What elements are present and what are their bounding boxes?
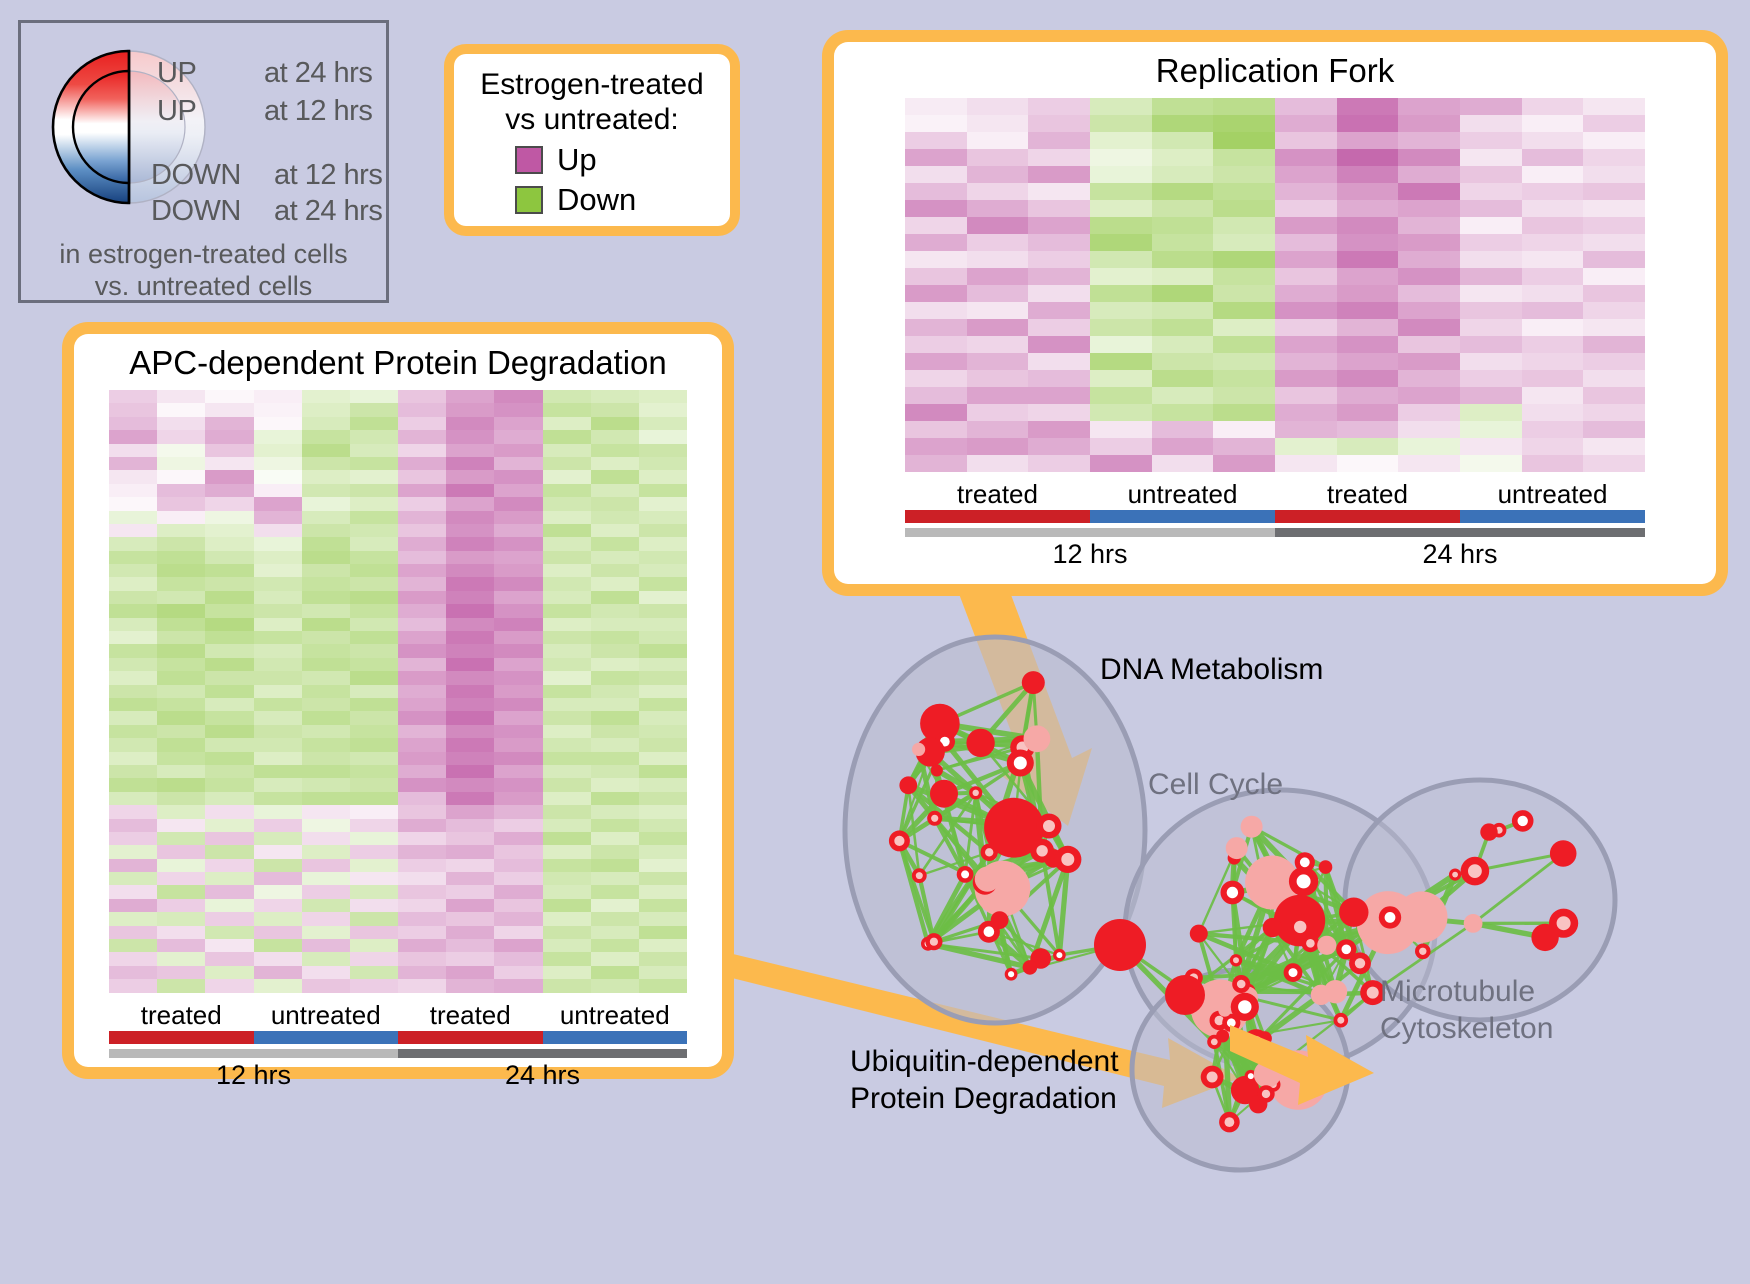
heatmap-cell [1522, 421, 1584, 438]
heatmap-cell [1152, 98, 1214, 115]
axis-group-label-3: untreated [543, 1000, 688, 1031]
heatmap-cell [543, 685, 591, 698]
heatmap-cell [109, 618, 157, 631]
heatmap-cell [446, 926, 494, 939]
heatmap-cell [905, 251, 967, 268]
heatmap-cell [494, 591, 542, 604]
heatmap-cell [1213, 115, 1275, 132]
heatmap-cell [543, 444, 591, 457]
heatmap-cell [446, 912, 494, 925]
heatmap-cell [639, 417, 687, 430]
heatmap-cell [109, 671, 157, 684]
heatmap-cell [1152, 455, 1214, 472]
heatmap-cell [205, 926, 253, 939]
heatmap-cell [109, 979, 157, 992]
heatmap-cell [1213, 200, 1275, 217]
heatmap-cell [157, 631, 205, 644]
heatmap-cell [494, 604, 542, 617]
heatmap-cell [591, 939, 639, 952]
heatmap-cell [1028, 166, 1090, 183]
heatmap-cell [398, 631, 446, 644]
heatmap-cell [1028, 353, 1090, 370]
heatmap-cell [1090, 234, 1152, 251]
heatmap-cell [109, 939, 157, 952]
heatmap-cell [302, 524, 350, 537]
heatmap-cell [1275, 421, 1337, 438]
heatmap-cell [254, 778, 302, 791]
heatmap-cell [591, 457, 639, 470]
heatmap-cell [494, 390, 542, 403]
heatmap-cell [302, 497, 350, 510]
heatmap-cell [639, 698, 687, 711]
heatmap-cell [543, 711, 591, 724]
heatmap-cell [398, 457, 446, 470]
heatmap-cell [446, 604, 494, 617]
heatmap-cell [494, 912, 542, 925]
heatmap-cell [1522, 166, 1584, 183]
heatmap-cell [494, 819, 542, 832]
heatmap-cell [905, 183, 967, 200]
heatmap-cell [302, 484, 350, 497]
heatmap-cell [1522, 149, 1584, 166]
heatmap-cell [350, 872, 398, 885]
network-node [1226, 837, 1248, 859]
heatmap-cell [109, 885, 157, 898]
heatmap-cell [350, 952, 398, 965]
treatment-color-bar [109, 1031, 687, 1044]
heatmap-cell [543, 859, 591, 872]
heatmap-cell [254, 671, 302, 684]
network-node-core [1306, 939, 1315, 948]
legend-time-3: at 24 hrs [274, 195, 382, 228]
heatmap-cell [350, 403, 398, 416]
heatmap-cell [398, 671, 446, 684]
heatmap-cell [1213, 217, 1275, 234]
heatmap-cell [1583, 98, 1645, 115]
heatmap-cell [157, 939, 205, 952]
heatmap-cell [350, 457, 398, 470]
heatmap-cell [157, 832, 205, 845]
heatmap-cell [905, 234, 967, 251]
axis-group-label-2: treated [1275, 479, 1460, 510]
heatmap-cell [157, 564, 205, 577]
heatmap-cell [1460, 302, 1522, 319]
network-node [1165, 975, 1205, 1015]
heatmap-cell [302, 738, 350, 751]
heatmap-cell [967, 149, 1029, 166]
heatmap-cell [591, 859, 639, 872]
heatmap-cell [350, 644, 398, 657]
heatmap-cell [494, 484, 542, 497]
heatmap-cell [543, 738, 591, 751]
heatmap-cell [1152, 319, 1214, 336]
heatmap-cell [350, 845, 398, 858]
heatmap-cell [446, 671, 494, 684]
heatmap-cell [591, 872, 639, 885]
heatmap-cell [446, 805, 494, 818]
heatmap-cell [967, 183, 1029, 200]
heatmap-cell [302, 685, 350, 698]
heatmap-cell [1460, 268, 1522, 285]
heatmap-cell [967, 370, 1029, 387]
heatmap-cell [543, 417, 591, 430]
heatmap-cell [157, 604, 205, 617]
treatment-color-bar [905, 510, 1645, 523]
heatmap-cell [350, 926, 398, 939]
heatmap-cell [205, 390, 253, 403]
network-node [930, 780, 958, 808]
heatmap-cell [205, 537, 253, 550]
axis-group-label-3: untreated [1460, 479, 1645, 510]
heatmap-cell [591, 819, 639, 832]
network-node [1094, 919, 1146, 971]
heatmap-cell [254, 604, 302, 617]
heatmap-cell [205, 484, 253, 497]
heatmap-cell [398, 979, 446, 992]
heatmap-cell [109, 819, 157, 832]
network-node-core [1036, 845, 1047, 856]
heatmap-cell [350, 618, 398, 631]
heatmap-cell [905, 438, 967, 455]
heatmap-cell [254, 979, 302, 992]
heatmap-cell [543, 591, 591, 604]
heatmap-cell [494, 457, 542, 470]
axis-time-label-1: 24 hrs [398, 1060, 687, 1091]
heatmap-cell [1337, 234, 1399, 251]
heatmap-cell [1090, 302, 1152, 319]
heatmap-cell [1028, 183, 1090, 200]
heatmap-cell [302, 644, 350, 657]
heatmap-cell [1152, 370, 1214, 387]
heatmap-cell [639, 912, 687, 925]
heatmap-cell [205, 859, 253, 872]
heatmap-cell [398, 417, 446, 430]
heatmap-cell [254, 644, 302, 657]
heatmap-cell [1028, 421, 1090, 438]
heatmap-cell [639, 591, 687, 604]
heatmap-cell [639, 819, 687, 832]
heatmap-cell [591, 778, 639, 791]
heatmap-cell [205, 644, 253, 657]
heatmap-cell [639, 711, 687, 724]
heatmap-cell [1460, 455, 1522, 472]
heatmap-cell [1028, 217, 1090, 234]
heatmap-cell [350, 511, 398, 524]
heatmap-cell [446, 792, 494, 805]
heatmap-cell [254, 698, 302, 711]
heatmap-cell [1398, 336, 1460, 353]
heatmap-cell [591, 685, 639, 698]
heatmap-cell [494, 859, 542, 872]
heatmap-cell [1583, 251, 1645, 268]
heatmap-cell [446, 685, 494, 698]
heatmap-cell [398, 725, 446, 738]
heatmap-cell [302, 979, 350, 992]
legend-direction-1: UP [157, 95, 196, 128]
heatmap-cell [254, 765, 302, 778]
axis-group-label-0: treated [109, 1000, 254, 1031]
heatmap-cell [1152, 285, 1214, 302]
heatmap-cell [302, 752, 350, 765]
heatmap-cell [1028, 200, 1090, 217]
heatmap-cell [591, 658, 639, 671]
heatmap-cell [1152, 421, 1214, 438]
heatmap-cell [109, 444, 157, 457]
heatmap-cell [543, 979, 591, 992]
heatmap-cell [1028, 404, 1090, 421]
heatmap-cell [639, 457, 687, 470]
heatmap-cell [1460, 149, 1522, 166]
heatmap-cell [205, 564, 253, 577]
heatmap-cell [398, 872, 446, 885]
heatmap-cell [1337, 404, 1399, 421]
heatmap-cell [350, 899, 398, 912]
heatmap-cell [302, 511, 350, 524]
key-title-line-1: Estrogen-treated [464, 68, 720, 103]
heatmap-cell [398, 470, 446, 483]
heatmap-cell [446, 484, 494, 497]
heatmap-cell [1213, 234, 1275, 251]
heatmap-cell [446, 497, 494, 510]
heatmap-cell [302, 765, 350, 778]
legend-direction-3: DOWN [151, 195, 241, 228]
heatmap-cell [398, 577, 446, 590]
network-node-core [1227, 887, 1238, 898]
heatmap-cell [446, 417, 494, 430]
heatmap-cell [967, 98, 1029, 115]
heatmap-cell [967, 166, 1029, 183]
heatmap-cell [494, 497, 542, 510]
heatmap-cell [591, 551, 639, 564]
heatmap-cell [1152, 166, 1214, 183]
heatmap-cell [157, 685, 205, 698]
heatmap-cell [494, 444, 542, 457]
heatmap-cell [591, 577, 639, 590]
heatmap-cell [1522, 370, 1584, 387]
heatmap-cell [591, 417, 639, 430]
heatmap-cell [157, 711, 205, 724]
heatmap-cell [639, 618, 687, 631]
heatmap-cell [109, 604, 157, 617]
time-color-bar [109, 1049, 687, 1058]
heatmap-cell [591, 832, 639, 845]
heatmap-cell [905, 115, 967, 132]
heatmap-cell [1152, 200, 1214, 217]
heatmap-cell [302, 564, 350, 577]
heatmap-cell [639, 765, 687, 778]
heatmap-cell [1460, 285, 1522, 302]
heatmap-cell [1337, 336, 1399, 353]
heatmap-cell [905, 336, 967, 353]
heatmap-cell [1337, 438, 1399, 455]
heatmap-cell [302, 926, 350, 939]
heatmap-cell [591, 470, 639, 483]
heatmap-cell [1213, 353, 1275, 370]
heatmap-cell [639, 685, 687, 698]
up-down-color-key: Estrogen-treated vs untreated: Up Down [444, 44, 740, 236]
heatmap-cell [1028, 234, 1090, 251]
heatmap-cell [1275, 302, 1337, 319]
heatmap-cell [205, 524, 253, 537]
heatmap-cell [494, 872, 542, 885]
heatmap-cell [1152, 234, 1214, 251]
heatmap-cell [302, 725, 350, 738]
heatmap-cell [967, 251, 1029, 268]
heatmap-cell [1090, 183, 1152, 200]
heatmap-cell [205, 725, 253, 738]
heatmap-cell [494, 765, 542, 778]
heatmap-cell [254, 899, 302, 912]
heatmap-cell [205, 939, 253, 952]
heatmap-cell [639, 832, 687, 845]
heatmap-cell [205, 765, 253, 778]
heatmap-cell [1213, 98, 1275, 115]
heatmap-cell [254, 845, 302, 858]
heatmap-cell [639, 952, 687, 965]
heatmap-cell [967, 132, 1029, 149]
heatmap-cell [446, 564, 494, 577]
heatmap-cell [1583, 285, 1645, 302]
network-node [1263, 918, 1282, 937]
heatmap-cell [446, 725, 494, 738]
heatmap-cell [494, 939, 542, 952]
heatmap-cell [543, 484, 591, 497]
heatmap-cell [398, 511, 446, 524]
heatmap-cell [398, 792, 446, 805]
network-node [1241, 816, 1263, 838]
heatmap-cell [1583, 370, 1645, 387]
heatmap-cell [1398, 421, 1460, 438]
heatmap-cell [1090, 319, 1152, 336]
heatmap-cell [967, 387, 1029, 404]
heatmap-cell [109, 966, 157, 979]
heatmap-cell [1398, 285, 1460, 302]
heatmap-cell [205, 698, 253, 711]
heatmap-cell [905, 132, 967, 149]
heatmap-cell [1460, 98, 1522, 115]
heatmap-cell [302, 819, 350, 832]
network-node [975, 867, 1000, 892]
heatmap-cell [1213, 302, 1275, 319]
heatmap-cell [398, 778, 446, 791]
heatmap-cell [1090, 251, 1152, 268]
heatmap-cell [967, 285, 1029, 302]
heatmap-cell [205, 671, 253, 684]
heatmap-cell [446, 551, 494, 564]
network-node [1339, 898, 1368, 927]
heatmap-cell [1337, 302, 1399, 319]
heatmap-cell [1213, 336, 1275, 353]
heatmap-cell [350, 765, 398, 778]
heatmap-cell [639, 752, 687, 765]
heatmap-cell [350, 792, 398, 805]
heatmap-cell [302, 792, 350, 805]
heatmap-cell [1522, 98, 1584, 115]
heatmap-cell [1398, 149, 1460, 166]
heatmap-cell [302, 390, 350, 403]
heatmap-cell [1090, 387, 1152, 404]
heatmap-cell [591, 952, 639, 965]
heatmap-cell [543, 778, 591, 791]
pathway-network-graph: DNA Metabolism Cell Cycle Microtubule Cy… [790, 600, 1750, 1279]
heatmap-cell [398, 644, 446, 657]
heatmap-cell [967, 353, 1029, 370]
heatmap-cell [1398, 302, 1460, 319]
heatmap-cell [302, 845, 350, 858]
heatmap-cell [591, 979, 639, 992]
heatmap-cell [1522, 268, 1584, 285]
heatmap-cell [543, 403, 591, 416]
heatmap-cell [254, 966, 302, 979]
heatmap-cell [905, 285, 967, 302]
network-node-core [1238, 1000, 1251, 1013]
heatmap-cell [1213, 387, 1275, 404]
heatmap-cell [1522, 285, 1584, 302]
heatmap-cell [109, 403, 157, 416]
network-node [1550, 840, 1577, 867]
heatmap-cell [446, 698, 494, 711]
heatmap-cell [494, 738, 542, 751]
heatmap-cell [1583, 404, 1645, 421]
heatmap-cell [205, 845, 253, 858]
up-swatch-icon [515, 146, 543, 174]
heatmap-cell [905, 455, 967, 472]
heatmap-cell [905, 421, 967, 438]
heatmap-cell [1398, 115, 1460, 132]
heatmap-cell [109, 591, 157, 604]
heatmap-cell [350, 725, 398, 738]
heatmap-cell [494, 966, 542, 979]
heatmap-cell [1028, 455, 1090, 472]
heatmap-cell [1090, 132, 1152, 149]
heatmap-cell [1337, 268, 1399, 285]
heatmap-cell [639, 738, 687, 751]
network-node [1190, 925, 1208, 943]
heatmap-cell [350, 671, 398, 684]
heatmap-cell [109, 832, 157, 845]
heatmap-cell [1275, 149, 1337, 166]
network-node-core [1468, 864, 1482, 878]
legend-time-2: at 12 hrs [274, 159, 382, 192]
heatmap-cell [1090, 268, 1152, 285]
connector-arrow-ubiquitin-head [1230, 1015, 1380, 1135]
heatmap-cell [1522, 115, 1584, 132]
heatmap-cell [302, 577, 350, 590]
heatmap-cell [1583, 200, 1645, 217]
heatmap-cell [494, 618, 542, 631]
heatmap-cell [254, 752, 302, 765]
heatmap-cell [1152, 132, 1214, 149]
heatmap-cell [1275, 166, 1337, 183]
expression-circle-legend: UP at 24 hrs UP at 12 hrs DOWN at 12 hrs… [18, 20, 389, 303]
heatmap-cell [446, 591, 494, 604]
heatmap-cell [157, 658, 205, 671]
heatmap-cell [302, 671, 350, 684]
heatmap-cell [109, 792, 157, 805]
heatmap-cell [591, 618, 639, 631]
heatmap-cell [639, 390, 687, 403]
heatmap-cell [494, 564, 542, 577]
heatmap-cell [398, 618, 446, 631]
heatmap-cell [205, 966, 253, 979]
heatmap-cell [1522, 387, 1584, 404]
heatmap-cell [591, 524, 639, 537]
heatmap-cell [398, 658, 446, 671]
heatmap-cell [350, 604, 398, 617]
heatmap-cell [639, 939, 687, 952]
heatmap-cell [1275, 455, 1337, 472]
heatmap-cell [302, 444, 350, 457]
